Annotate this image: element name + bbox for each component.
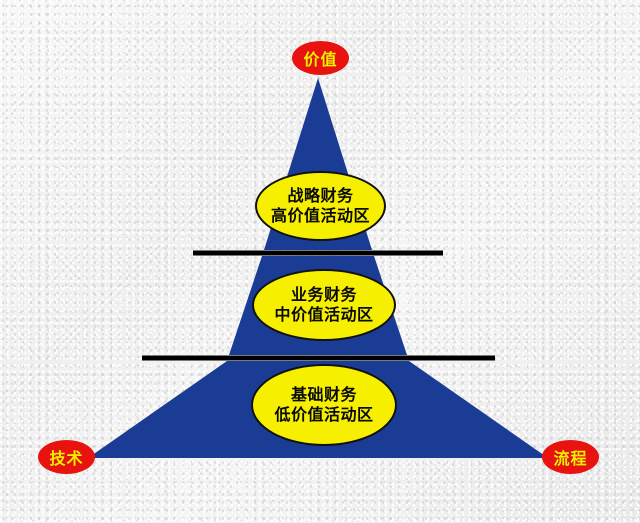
- tier-business-finance-line1: 业务财务: [291, 285, 357, 305]
- diagram-canvas: 战略财务 高价值活动区 业务财务 中价值活动区 基础财务 低价值活动区 价值 技…: [0, 0, 640, 523]
- corner-label-process[interactable]: 流程: [542, 440, 599, 474]
- corner-label-technology[interactable]: 技术: [38, 440, 95, 474]
- tier-business-finance-line2: 中价值活动区: [274, 305, 373, 325]
- corner-label-process-text: 流程: [553, 445, 587, 469]
- tier-strategic-finance-line1: 战略财务: [287, 186, 353, 206]
- tier-strategic-finance-line2: 高价值活动区: [271, 206, 370, 226]
- tier-business-finance[interactable]: 业务财务 中价值活动区: [252, 269, 396, 341]
- corner-label-technology-text: 技术: [49, 445, 83, 469]
- tier-basic-finance-line2: 低价值活动区: [274, 405, 373, 425]
- corner-label-value-text: 价值: [303, 46, 337, 70]
- tier-basic-finance[interactable]: 基础财务 低价值活动区: [251, 364, 397, 446]
- tier-strategic-finance[interactable]: 战略财务 高价值活动区: [255, 171, 386, 241]
- corner-label-value[interactable]: 价值: [292, 41, 349, 75]
- tier-basic-finance-line1: 基础财务: [291, 385, 357, 405]
